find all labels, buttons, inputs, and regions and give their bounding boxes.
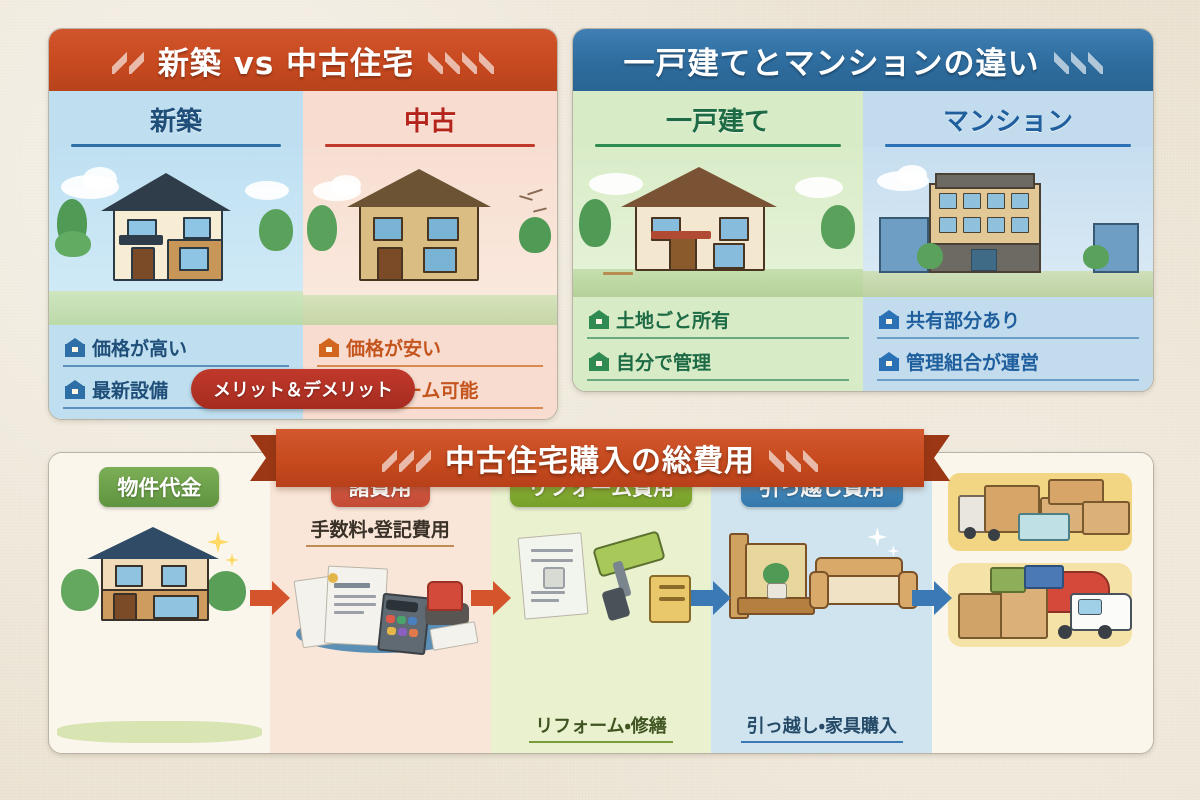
mansion-building-illustration: [863, 147, 1153, 297]
double-chevron-right-icon: [112, 46, 144, 74]
bullet-label: 自分で管理: [616, 348, 711, 375]
panel-house-vs-mansion-banner: 一戸建てとマンションの違い: [573, 29, 1153, 91]
total-cost-ribbon-title: 中古住宅購入の総費用: [445, 436, 755, 480]
step-moving-cost[interactable]: 引っ越し費用 引っ越し・家具購入: [711, 453, 932, 753]
step-property-price-header: 物件代金: [99, 467, 219, 507]
total-cost-ribbon: 中古住宅購入の総費用: [250, 425, 950, 491]
house-bullet-icon: [589, 352, 609, 371]
bullet-label: 土地ごと所有: [616, 306, 730, 333]
house-bullet-icon: [589, 310, 609, 329]
house-with-sparkles-illustration: [57, 513, 262, 743]
bullet-label: 最新設備: [92, 376, 168, 403]
new-build-house-illustration: [49, 147, 303, 325]
panel-house-vs-mansion-columns: 一戸建て: [573, 91, 1153, 391]
mansion-bullet-list: 共有部分あり 管理組合が運営: [863, 297, 1153, 391]
house-bullet-icon: [65, 380, 85, 399]
bullet-label: 管理組合が運営: [906, 348, 1039, 375]
step-renovation-cost[interactable]: リフォーム費用 リフォーム・修繕: [491, 453, 712, 753]
detached-house-bullet-list: 土地ごと所有 自分で管理: [573, 297, 863, 391]
moving-truck-and-boxes-illustration: [940, 467, 1145, 743]
step-property-price[interactable]: 物件代金: [49, 453, 270, 753]
merit-demerit-badge[interactable]: メリット＆デメリット: [191, 369, 415, 409]
house-bullet-icon: [879, 352, 899, 371]
step-moving-cost-caption: 引っ越し・家具購入: [741, 710, 903, 743]
step-arrow-3: [691, 581, 731, 615]
panel-new-vs-used-banner: 新築 vs 中古住宅: [49, 29, 557, 91]
house-bullet-icon: [65, 338, 85, 357]
step-arrow-4: [912, 581, 952, 615]
house-bullet-icon: [879, 310, 899, 329]
panel-house-vs-mansion: 一戸建てとマンションの違い 一戸建て: [572, 28, 1154, 392]
column-detached-house[interactable]: 一戸建て: [573, 91, 863, 391]
panel-house-vs-mansion-title: 一戸建てとマンションの違い: [624, 38, 1040, 83]
ribbon-body: 中古住宅購入の総費用: [276, 429, 924, 487]
column-mansion-title: マンション: [863, 91, 1153, 142]
infographic-stage: 新築 vs 中古住宅 新築: [0, 0, 1200, 800]
furniture-sofa-sparkles-illustration: [719, 513, 924, 710]
bullet-item: 自分で管理: [587, 345, 849, 381]
bullet-item: 土地ごと所有: [587, 303, 849, 339]
step-renovation-cost-caption: リフォーム・修繕: [529, 710, 673, 743]
panel-total-cost: 物件代金 諸: [48, 452, 1154, 754]
column-new-build-title: 新築: [49, 91, 303, 142]
column-used-home-title: 中古: [303, 91, 557, 142]
used-home-house-illustration: [303, 147, 557, 325]
bullet-item: 価格が安い: [317, 331, 543, 367]
documents-calculator-stamp-illustration: [278, 553, 483, 743]
cost-step-list: 物件代金 諸: [49, 453, 1153, 753]
step-arrow-1: [250, 581, 290, 615]
column-mansion[interactable]: マンション: [863, 91, 1153, 391]
step-arrow-2: [471, 581, 511, 615]
bullet-item: 価格が高い: [63, 331, 289, 367]
bullet-item: 管理組合が運営: [877, 345, 1139, 381]
step-moving-truck[interactable]: [932, 453, 1153, 753]
column-detached-house-title: 一戸建て: [573, 91, 863, 142]
panel-new-vs-used: 新築 vs 中古住宅 新築: [48, 28, 558, 420]
bullet-label: 価格が安い: [346, 334, 441, 361]
house-bullet-icon: [319, 338, 339, 357]
step-misc-fees-subtitle: 手数料・登記費用: [306, 515, 453, 547]
triple-chevron-left-icon: [1054, 46, 1103, 74]
triple-chevron-right-icon: [382, 444, 431, 472]
bullet-label: 共有部分あり: [906, 306, 1020, 333]
detached-house-illustration: [573, 147, 863, 297]
step-misc-fees[interactable]: 諸費用 手数料・登記費用: [270, 453, 491, 753]
quad-chevron-left-icon: [428, 46, 494, 74]
bullet-label: 価格が高い: [92, 334, 187, 361]
panel-new-vs-used-title: 新築 vs 中古住宅: [158, 38, 414, 83]
blueprint-paint-roller-illustration: [499, 513, 704, 710]
bullet-item: 共有部分あり: [877, 303, 1139, 339]
triple-chevron-left-icon: [769, 444, 818, 472]
